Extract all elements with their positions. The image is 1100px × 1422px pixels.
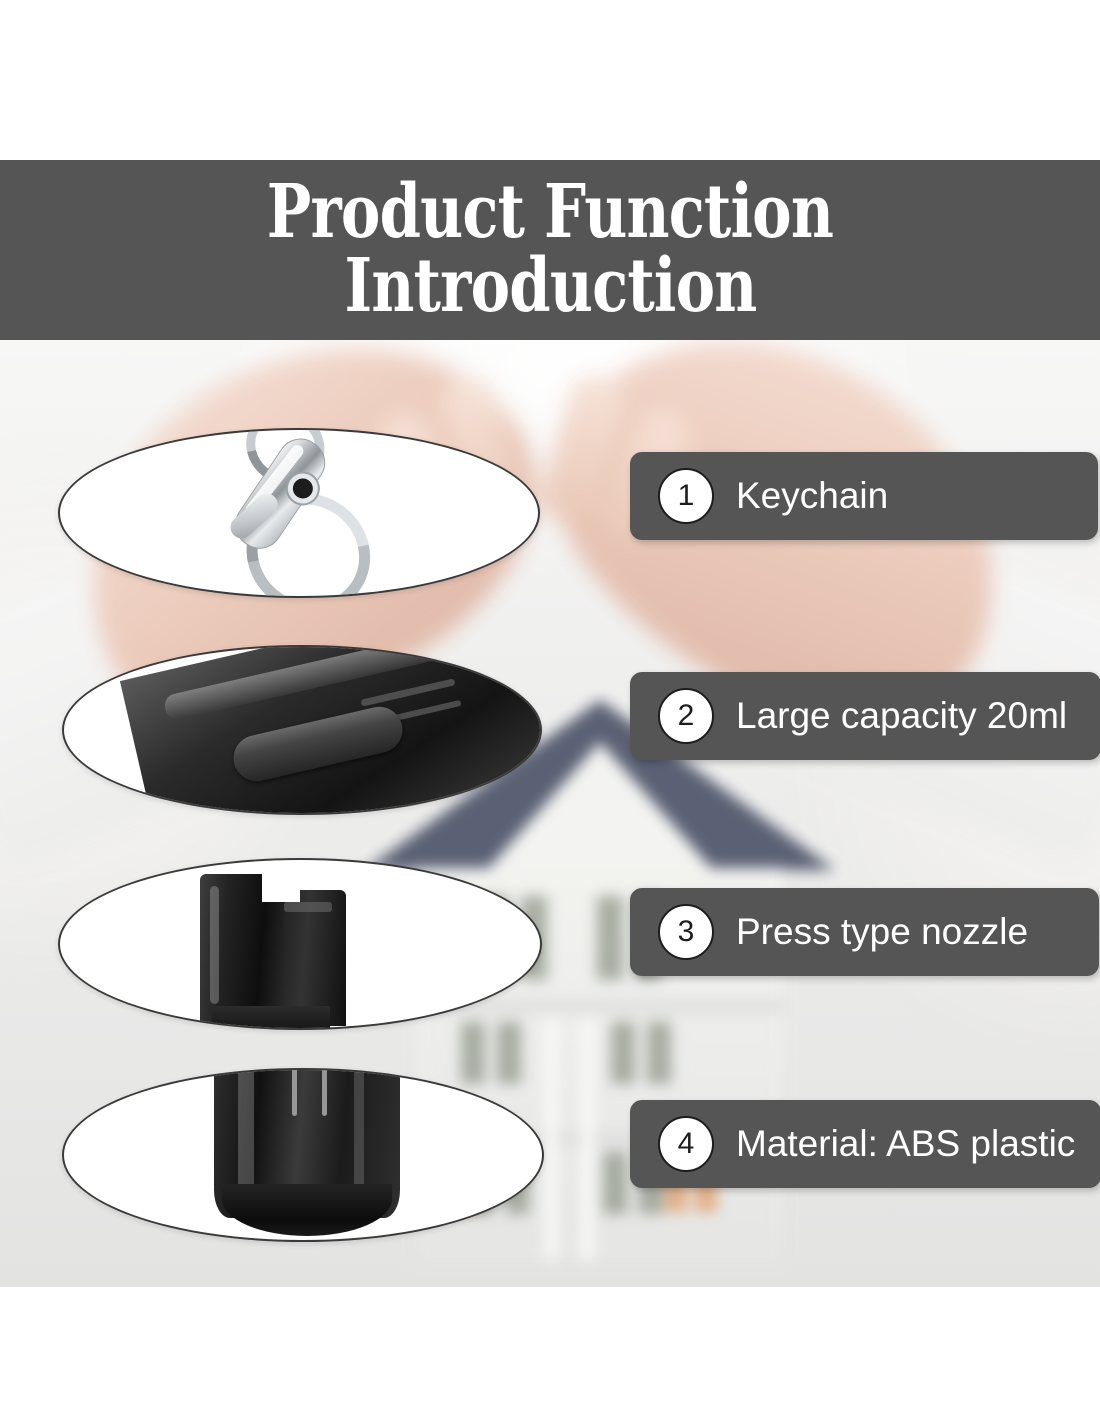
feature-number-badge-2: 2 — [658, 688, 714, 744]
product-infographic: Product Function Introduction — [0, 0, 1100, 1422]
feature-label-text-4: Material: ABS plastic — [736, 1123, 1075, 1165]
feature-label-2[interactable]: 2 Large capacity 20ml — [630, 672, 1100, 760]
feature-label-text-2: Large capacity 20ml — [736, 695, 1067, 737]
bottle-base-photo — [64, 1070, 542, 1240]
nozzle-notch — [262, 872, 300, 902]
feature-image-oval-3 — [58, 858, 542, 1030]
page-title-line-1: Product Function — [267, 178, 833, 248]
feature-number-badge-1: 1 — [658, 468, 714, 524]
bottle-base-bevel — [222, 1184, 392, 1236]
feature-label-3[interactable]: 3 Press type nozzle — [630, 888, 1099, 976]
bottle-base-slot — [322, 1068, 327, 1116]
feature-label-text-3: Press type nozzle — [736, 911, 1028, 953]
bottle-body-photo — [64, 647, 540, 813]
feature-image-oval-4 — [62, 1068, 544, 1242]
nozzle-collar — [212, 1006, 330, 1030]
nozzle-highlight — [210, 886, 219, 1004]
nozzle-slot — [284, 902, 332, 912]
feature-number-badge-3: 3 — [658, 904, 714, 960]
press-nozzle-graphic — [200, 868, 360, 1024]
feature-label-4[interactable]: 4 Material: ABS plastic — [630, 1100, 1100, 1188]
bottle-base-slot — [292, 1068, 297, 1116]
feature-label-text-1: Keychain — [736, 475, 888, 517]
feature-number-badge-4: 4 — [658, 1116, 714, 1172]
keychain-clasp-graphic — [184, 428, 442, 598]
feature-image-oval-1 — [58, 428, 540, 598]
page-title-line-2: Introduction — [344, 252, 756, 322]
feature-label-1[interactable]: 1 Keychain — [630, 452, 1098, 540]
press-nozzle-photo — [60, 860, 540, 1028]
header-banner: Product Function Introduction — [0, 160, 1100, 340]
keychain-clasp-photo — [60, 430, 538, 596]
bottle-base-graphic — [214, 1068, 400, 1242]
feature-image-oval-2 — [62, 645, 542, 815]
